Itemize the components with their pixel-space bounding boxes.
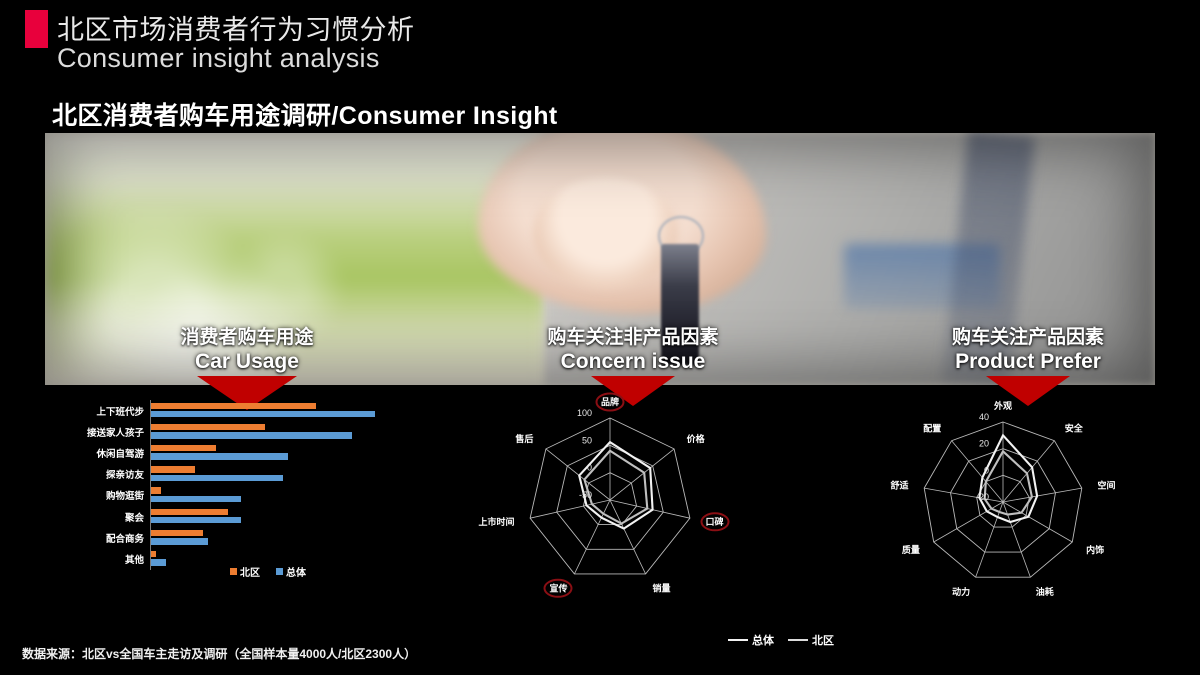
- bar-chart-legend: 北区 总体: [230, 564, 306, 579]
- callout-label-cn: 购车关注产品因素: [913, 322, 1143, 349]
- legend-label: 总体: [286, 564, 306, 579]
- radar-axis-spoke: [610, 500, 646, 574]
- header-title-en: Consumer insight analysis: [57, 43, 380, 74]
- radar-chart-concern-issue: 品牌价格口碑销量宣传上市时间售后100500-50: [470, 392, 750, 622]
- radar-axis-spoke: [924, 488, 1003, 502]
- bar-segment-总体: [151, 538, 208, 544]
- header-accent-bar: [25, 10, 48, 48]
- radar-legend: 总体 北区: [728, 632, 834, 648]
- radar-scale-label: -50: [579, 490, 592, 500]
- radar-axis-spoke: [1003, 441, 1054, 502]
- bar-category-label: 配合商务: [62, 531, 150, 545]
- legend-swatch-icon: [276, 568, 283, 575]
- radar-axis-label: 宣传: [549, 582, 567, 593]
- bar-category-label: 购物逛街: [62, 488, 150, 502]
- radar-axis-spoke: [934, 502, 1003, 542]
- radar-axis-label: 油耗: [1036, 586, 1054, 597]
- bar-chart-row: 聚会: [62, 506, 422, 527]
- radar-scale-label: 50: [582, 435, 592, 445]
- legend-item-zongti: 总体: [276, 564, 306, 579]
- legend-label: 总体: [752, 632, 774, 648]
- bar-segment-总体: [151, 559, 166, 565]
- radar-axis-spoke: [1003, 488, 1082, 502]
- radar-legend-item-zongti: 总体: [728, 632, 774, 648]
- radar-axis-label: 口碑: [706, 516, 724, 527]
- legend-swatch-icon: [230, 568, 237, 575]
- legend-label: 北区: [812, 632, 834, 648]
- bar-segment-北区: [151, 551, 156, 557]
- callout-label-en: Car Usage: [132, 350, 362, 374]
- radar-axis-label: 售后: [514, 433, 533, 444]
- bar-chart-row: 上下班代步: [62, 400, 422, 421]
- radar-axis-label: 质量: [902, 544, 920, 555]
- bar-segment-北区: [151, 403, 316, 409]
- radar-axis-spoke: [610, 500, 690, 518]
- bar-track: [150, 400, 422, 421]
- bar-track: [150, 421, 422, 442]
- radar-axis-label: 安全: [1065, 423, 1084, 434]
- bar-segment-北区: [151, 530, 203, 536]
- bar-track: [150, 485, 422, 506]
- bar-segment-北区: [151, 509, 228, 515]
- radar-chart-product-prefer: 外观安全空间内饰油耗动力质量舒适配置40200-20: [875, 392, 1135, 627]
- bar-category-label: 其他: [62, 552, 150, 566]
- bar-chart-row: 休闲自驾游: [62, 442, 422, 463]
- legend-line-icon: [728, 639, 748, 641]
- radar-axis-label: 上市时间: [478, 516, 514, 527]
- bar-category-label: 接送家人孩子: [62, 425, 150, 439]
- radar-axis-label: 动力: [952, 586, 970, 597]
- source-note: 数据来源：北区vs全国车主走访及调研（全国样本量4000人/北区2300人）: [22, 645, 416, 662]
- bar-segment-总体: [151, 432, 352, 438]
- radar-legend-item-beiqu: 北区: [788, 632, 834, 648]
- bar-category-label: 聚会: [62, 510, 150, 524]
- callout-label-en: Product Prefer: [913, 350, 1143, 374]
- slide-root: 北区市场消费者行为习惯分析 Consumer insight analysis …: [0, 0, 1200, 675]
- radar-scale-label: 40: [979, 412, 989, 422]
- bar-chart-row: 购物逛街: [62, 485, 422, 506]
- bar-chart-row: 探亲访友: [62, 464, 422, 485]
- radar-axis-label: 外观: [993, 400, 1012, 411]
- bar-track: [150, 464, 422, 485]
- bar-segment-北区: [151, 445, 216, 451]
- radar-scale-label: -20: [976, 492, 989, 502]
- legend-line-icon: [788, 639, 808, 641]
- legend-item-beiqu: 北区: [230, 564, 260, 579]
- legend-label: 北区: [240, 564, 260, 579]
- bar-segment-北区: [151, 487, 161, 493]
- callout-label-cn: 消费者购车用途: [132, 322, 362, 349]
- section-title: 北区消费者购车用途调研/Consumer Insight: [52, 96, 558, 132]
- bar-category-label: 探亲访友: [62, 467, 150, 481]
- charts-row: 上下班代步接送家人孩子休闲自驾游探亲访友购物逛街聚会配合商务其他 北区 总体 品…: [0, 392, 1200, 642]
- bar-track: [150, 506, 422, 527]
- bar-track: [150, 442, 422, 463]
- bar-chart-row: 接送家人孩子: [62, 421, 422, 442]
- header-title-cn: 北区市场消费者行为习惯分析: [57, 8, 415, 47]
- radar-scale-label: 0: [984, 465, 989, 475]
- radar-axis-label: 内饰: [1086, 544, 1104, 555]
- bar-segment-北区: [151, 424, 265, 430]
- radar-axis-label: 销量: [653, 582, 671, 593]
- radar-axis-label: 价格: [687, 433, 706, 444]
- radar-scale-label: 100: [577, 408, 592, 418]
- callout-label-cn: 购车关注非产品因素: [518, 322, 748, 349]
- radar-scale-label: 0: [587, 463, 592, 473]
- radar-axis-label: 空间: [1098, 479, 1116, 490]
- bar-segment-总体: [151, 475, 283, 481]
- bar-category-label: 上下班代步: [62, 404, 150, 418]
- bar-segment-总体: [151, 411, 375, 417]
- bar-track: [150, 527, 422, 548]
- radar-axis-label: 配置: [923, 424, 941, 434]
- radar-axis-spoke: [546, 449, 610, 500]
- radar-scale-label: 20: [979, 439, 989, 449]
- radar-axis-label: 品牌: [601, 396, 619, 407]
- bar-category-label: 休闲自驾游: [62, 446, 150, 460]
- bar-chart-row: 配合商务: [62, 527, 422, 548]
- radar-axis-label: 舒适: [890, 479, 908, 490]
- bar-segment-北区: [151, 466, 195, 472]
- bar-segment-总体: [151, 517, 241, 523]
- bar-segment-总体: [151, 453, 288, 459]
- callout-label-en: Concern issue: [518, 350, 748, 374]
- bar-segment-总体: [151, 496, 241, 502]
